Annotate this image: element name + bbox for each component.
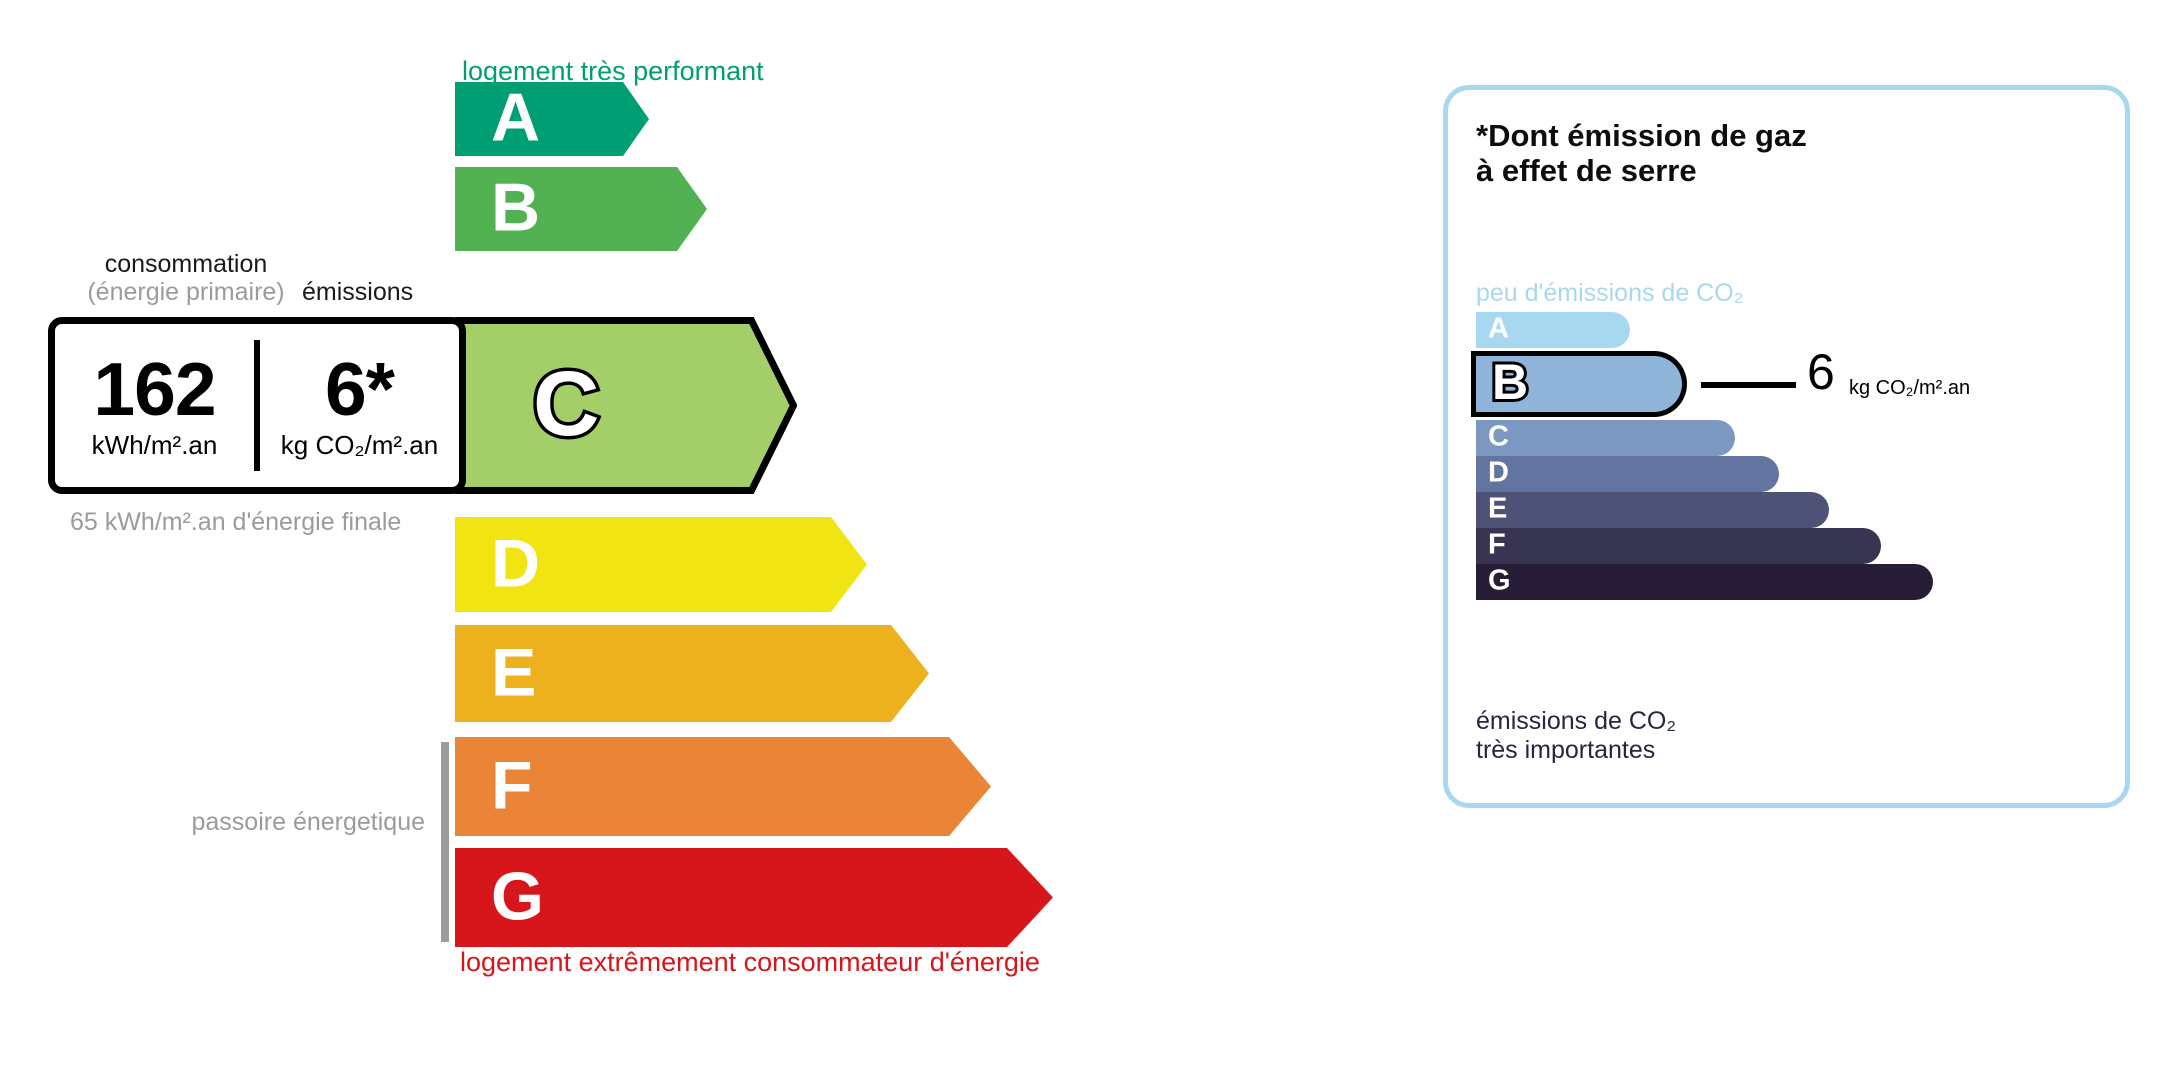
grade-arrow-a: A	[455, 82, 649, 156]
grade-arrow-d: D	[455, 517, 867, 612]
value-emissions: 6*	[325, 354, 394, 425]
unit-emissions: kg CO₂/m².an	[281, 430, 438, 461]
value-cell-emissions: 6* kg CO₂/m².an	[260, 324, 459, 487]
co2-bottom-label: émissions de CO₂ très importantes	[1476, 707, 1676, 765]
co2-bar-g: G	[1476, 564, 1933, 600]
co2-title: *Dont émission de gaz à effet de serre	[1476, 119, 1807, 188]
co2-bar-b: B	[1476, 351, 1687, 417]
grade-letter-a: A	[491, 84, 540, 152]
co2-bar-a: A	[1476, 312, 1630, 348]
co2-top-label: peu d'émissions de CO₂	[1476, 279, 1743, 308]
header-emissions: émissions	[302, 278, 413, 307]
grade-arrow-c: C	[455, 317, 797, 494]
passoire-label: passoire énergetique	[185, 808, 425, 838]
grade-letter-d: D	[491, 529, 540, 597]
grade-letter-e: E	[491, 638, 536, 706]
value-cell-energy: 162 kWh/m².an	[55, 324, 254, 487]
grade-arrow-b: B	[455, 167, 707, 251]
co2-bar-e: E	[1476, 492, 1829, 528]
energy-scale-panel: logement très performant consommation (é…	[0, 0, 1400, 1079]
co2-letter-b: B	[1492, 357, 1528, 407]
dpe-label: logement très performant consommation (é…	[0, 0, 2170, 1079]
grade-letter-b: B	[491, 174, 540, 242]
co2-value-unit: kg CO₂/m².an	[1849, 377, 1970, 400]
co2-letter-g: G	[1488, 566, 1511, 595]
caption-bottom-consommateur: logement extrêmement consommateur d'éner…	[460, 947, 1040, 978]
final-energy-note: 65 kWh/m².an d'énergie finale	[70, 508, 401, 538]
co2-leader-line	[1701, 382, 1796, 388]
co2-bar-f: F	[1476, 528, 1881, 564]
co2-bar-c: C	[1476, 420, 1735, 456]
header-consumption-main: consommation	[105, 250, 268, 278]
co2-letter-e: E	[1488, 494, 1507, 523]
grade-arrow-e: E	[455, 625, 929, 722]
grade-letter-f: F	[491, 751, 533, 819]
header-consumption: consommation (énergie primaire)	[66, 250, 306, 306]
co2-value: 6	[1807, 347, 1835, 397]
passoire-bracket	[441, 742, 449, 942]
co2-bar-d: D	[1476, 456, 1779, 492]
header-consumption-sub: (énergie primaire)	[66, 278, 306, 306]
co2-letter-f: F	[1488, 530, 1506, 559]
grade-letter-c: C	[533, 358, 599, 450]
value-box: 162 kWh/m².an 6* kg CO₂/m².an	[48, 317, 466, 494]
co2-letter-c: C	[1488, 422, 1509, 451]
grade-arrow-g: G	[455, 848, 1053, 947]
grade-letter-g: G	[491, 862, 544, 930]
co2-letter-d: D	[1488, 458, 1509, 487]
unit-energy: kWh/m².an	[92, 430, 218, 461]
grade-arrow-f: F	[455, 737, 991, 836]
co2-panel: *Dont émission de gaz à effet de serre p…	[1443, 85, 2130, 808]
co2-letter-a: A	[1488, 314, 1509, 343]
value-energy: 162	[93, 354, 215, 425]
